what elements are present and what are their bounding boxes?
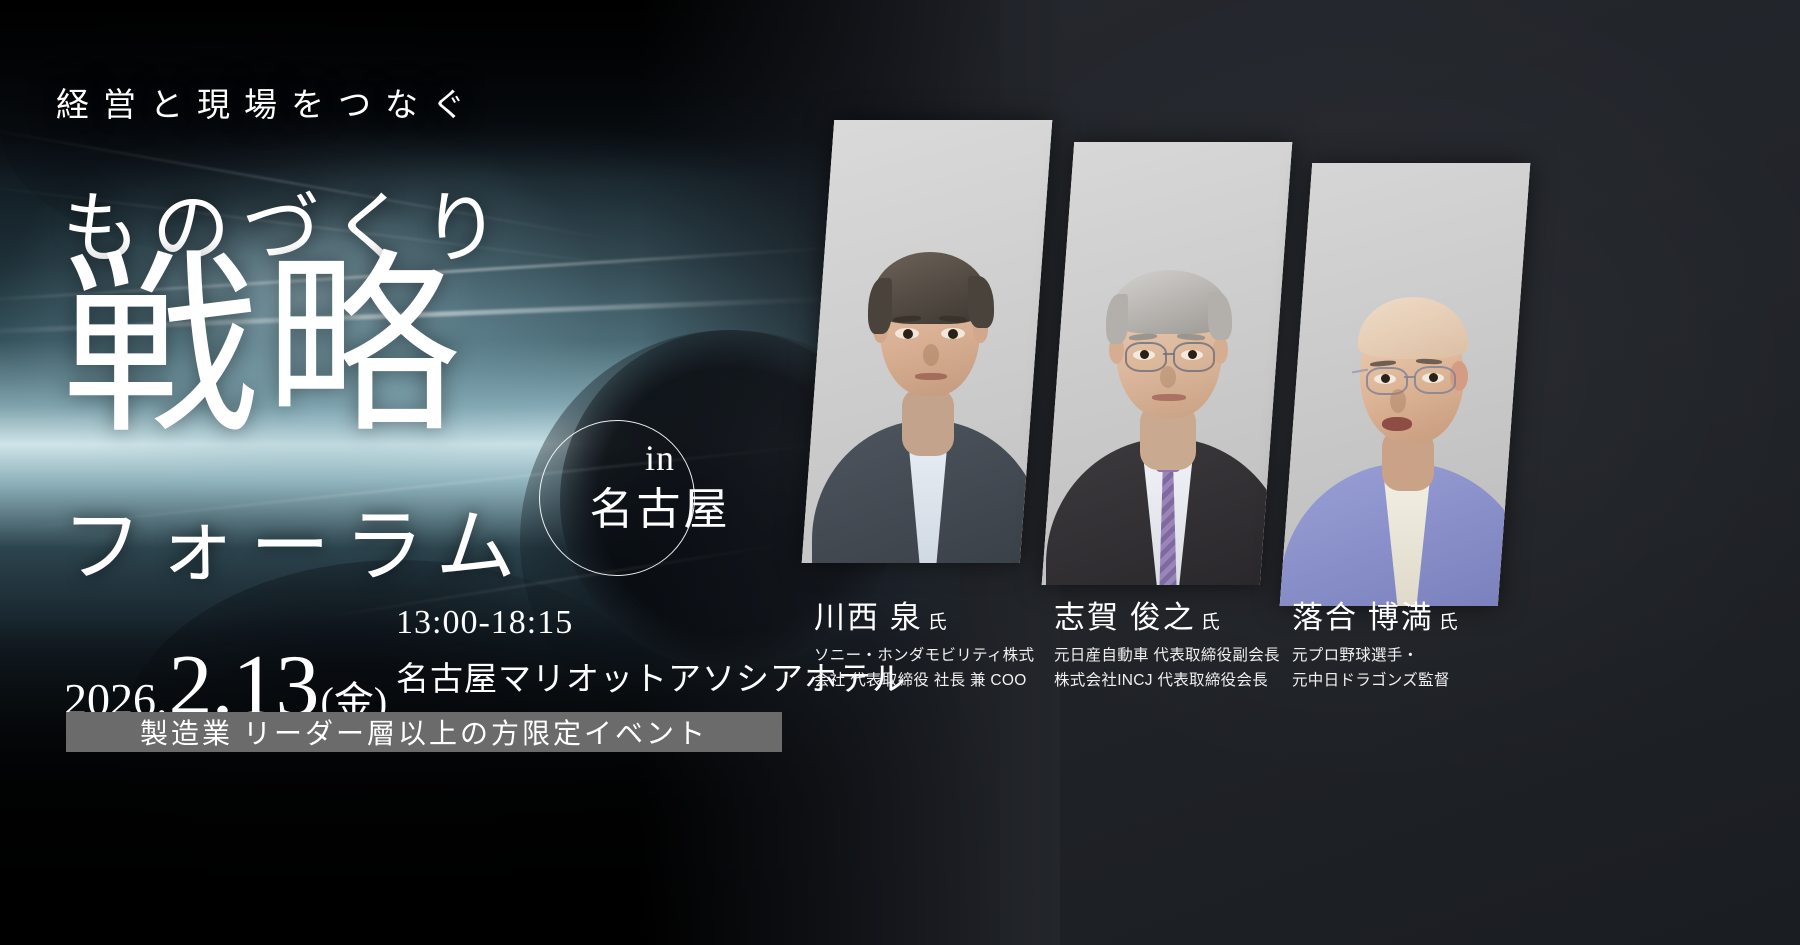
speaker-name-2: 志賀 俊之氏 <box>1054 592 1220 637</box>
event-title-senryaku: 戦略 <box>62 255 466 443</box>
audience-restriction-label: 製造業 リーダー層以上の方限定イベント <box>140 712 708 752</box>
speaker-affiliation-line1-2: 元日産自動車 代表取締役副会長 <box>1054 643 1280 668</box>
speaker-photo-1 <box>802 120 1053 563</box>
speaker-honorific-1: 氏 <box>928 612 947 633</box>
speaker-portrait-3 <box>1280 163 1531 606</box>
speaker-photo-3 <box>1280 163 1531 606</box>
event-title-forum: フォーラム <box>62 482 530 598</box>
speaker-affiliation-line1-1: ソニー・ホンダモビリティ株式 <box>814 643 1034 668</box>
speaker-portrait-2 <box>1042 142 1293 585</box>
event-banner: 経営と現場をつなぐ ものづくり 戦略 フォーラム in 名古屋 2026. 2.… <box>0 0 1800 945</box>
speaker-honorific-2: 氏 <box>1201 612 1220 633</box>
speaker-affiliation-2: 元日産自動車 代表取締役副会長 株式会社INCJ 代表取締役会長 <box>1054 643 1280 693</box>
speaker-name-3: 落合 博満氏 <box>1292 592 1458 637</box>
speaker-portrait-1 <box>802 120 1053 563</box>
speaker-affiliation-line2-1: 会社 代表取締役 社長 兼 COO <box>814 668 1034 693</box>
location-badge-city: 名古屋 <box>560 482 760 537</box>
speaker-affiliation-1: ソニー・ホンダモビリティ株式 会社 代表取締役 社長 兼 COO <box>814 643 1034 693</box>
location-badge-preposition: in <box>560 440 760 476</box>
event-tagline: 経営と現場をつなぐ <box>56 78 479 126</box>
speaker-honorific-3: 氏 <box>1439 612 1458 633</box>
speaker-name-text-1: 川西 泉 <box>814 600 923 635</box>
speaker-affiliation-line2-2: 株式会社INCJ 代表取締役会長 <box>1054 668 1280 693</box>
audience-restriction-bar: 製造業 リーダー層以上の方限定イベント <box>66 712 782 752</box>
speaker-affiliation-line1-3: 元プロ野球選手・ <box>1292 643 1450 668</box>
speaker-name-text-2: 志賀 俊之 <box>1054 600 1196 635</box>
speaker-photo-2 <box>1042 142 1293 585</box>
speaker-affiliation-3: 元プロ野球選手・ 元中日ドラゴンズ監督 <box>1292 643 1450 693</box>
speaker-name-1: 川西 泉氏 <box>814 592 947 637</box>
location-badge: in 名古屋 <box>560 440 760 537</box>
speaker-affiliation-line2-3: 元中日ドラゴンズ監督 <box>1292 668 1450 693</box>
speaker-name-text-3: 落合 博満 <box>1292 600 1434 635</box>
